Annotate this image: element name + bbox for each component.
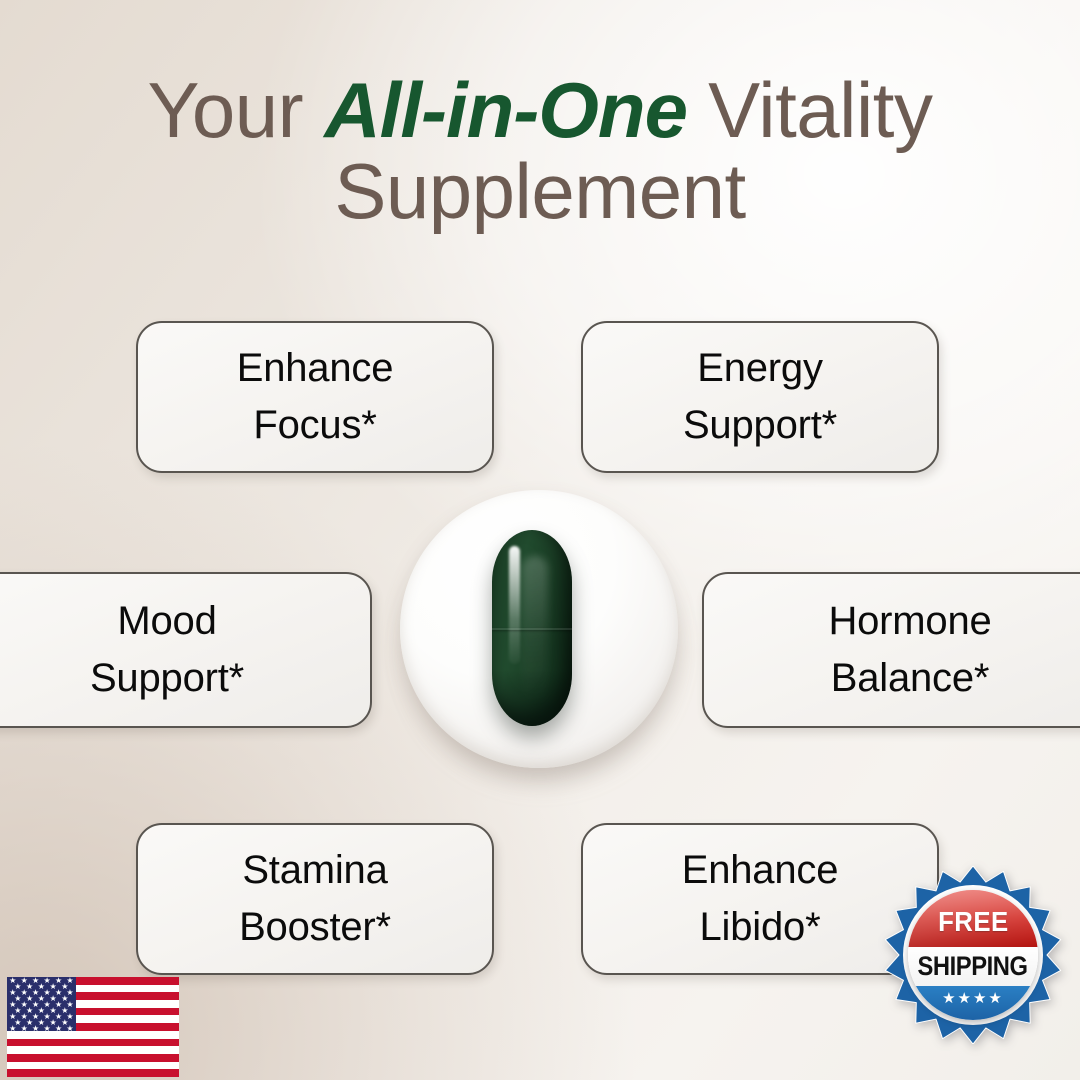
flag-stripe [7, 1046, 179, 1054]
benefit-label-energy: Energy Support* [665, 340, 855, 454]
flag-star-row: ★★★★★★ [7, 1025, 76, 1031]
flag-star: ★ [44, 1025, 51, 1031]
flag-star: ★ [55, 1025, 62, 1031]
capsule-shading [492, 670, 572, 726]
flag-star: ★ [66, 1025, 73, 1031]
flag-stripe [7, 1069, 179, 1077]
badge-line-2: SHIPPING [918, 951, 1028, 982]
benefit-card-stamina[interactable]: Stamina Booster* [136, 823, 494, 975]
badge-band-blue: ★★★★ [908, 986, 1038, 1020]
benefit-card-hormone[interactable]: Hormone Balance* [702, 572, 1080, 728]
flag-star: ★ [9, 1025, 16, 1031]
benefit-label-libido: Enhance Libido* [664, 842, 857, 956]
benefit-label-stamina: Stamina Booster* [221, 842, 409, 956]
badge-stars: ★★★★ [942, 991, 1004, 1006]
capsule-seam [492, 628, 572, 630]
benefit-card-energy[interactable]: Energy Support* [581, 321, 939, 473]
badge-band-red: FREE [908, 890, 1038, 947]
us-flag-icon: ★★★★★★★★★★★★★★★★★★★★★★★★★★★★★★★★★★★★★★★★… [7, 977, 179, 1077]
headline-part-2: Vitality [687, 66, 933, 154]
capsule-highlight [509, 546, 520, 664]
flag-canton: ★★★★★★★★★★★★★★★★★★★★★★★★★★★★★★★★★★★★★★★★… [7, 977, 76, 1031]
green-capsule-icon [492, 530, 572, 726]
badge-face: FREE SHIPPING ★★★★ [908, 890, 1038, 1020]
benefit-card-focus[interactable]: Enhance Focus* [136, 321, 494, 473]
badge-band-white: SHIPPING [908, 947, 1038, 986]
free-shipping-badge: FREE SHIPPING ★★★★ [884, 866, 1062, 1044]
headline-part-1: Your [148, 66, 325, 154]
flag-stripe [7, 1054, 179, 1062]
promo-poster: Your All-in-One Vitality Supplement Enha… [0, 0, 1080, 1080]
flag-stripe [7, 1062, 179, 1070]
flag-star: ★ [21, 1025, 28, 1031]
flag-stripe [7, 1039, 179, 1047]
flag-stripe [7, 1031, 179, 1039]
badge-line-1: FREE [938, 906, 1009, 938]
benefit-label-mood: Mood Support* [72, 593, 262, 707]
headline-line-2: Supplement [0, 151, 1080, 232]
page-title: Your All-in-One Vitality Supplement [0, 70, 1080, 232]
headline-accent: All-in-One [324, 66, 687, 154]
benefit-label-focus: Enhance Focus* [219, 340, 412, 454]
benefit-label-hormone: Hormone Balance* [810, 593, 1009, 707]
flag-star: ★ [32, 1025, 39, 1031]
benefit-card-mood[interactable]: Mood Support* [0, 572, 372, 728]
product-image [392, 482, 688, 788]
